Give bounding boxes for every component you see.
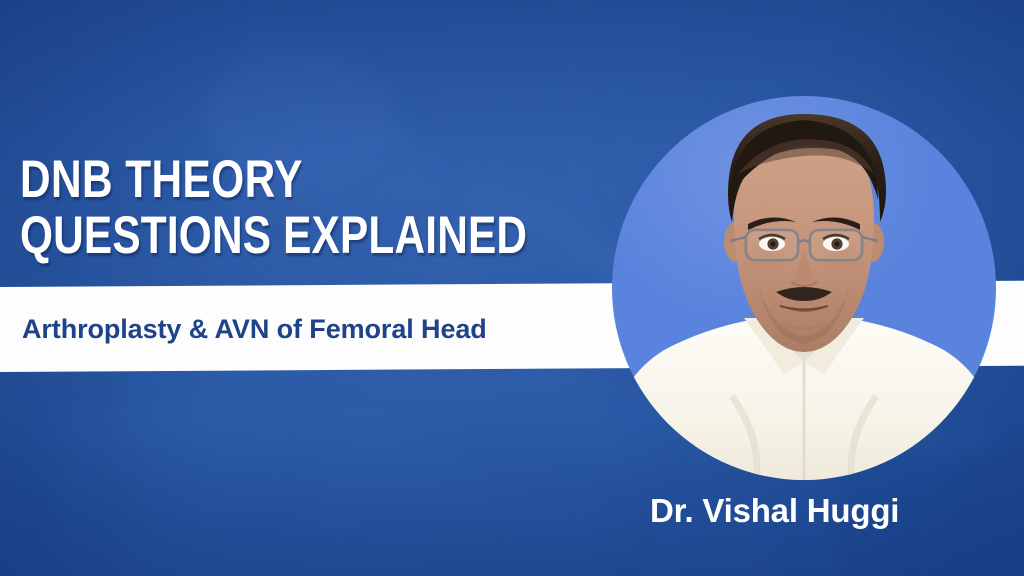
headline-line-1: DNB Theory	[20, 152, 527, 208]
headline-line-2: Questions Explained	[20, 208, 527, 264]
page-title: DNB Theory Questions Explained	[20, 152, 527, 264]
presenter-portrait	[612, 96, 996, 480]
portrait-illustration	[612, 96, 996, 480]
video-thumbnail: Arthroplasty & AVN of Femoral Head DNB T…	[0, 0, 1024, 576]
subtitle-text: Arthroplasty & AVN of Femoral Head	[22, 302, 622, 356]
presenter-name: Dr. Vishal Huggi	[650, 492, 899, 530]
